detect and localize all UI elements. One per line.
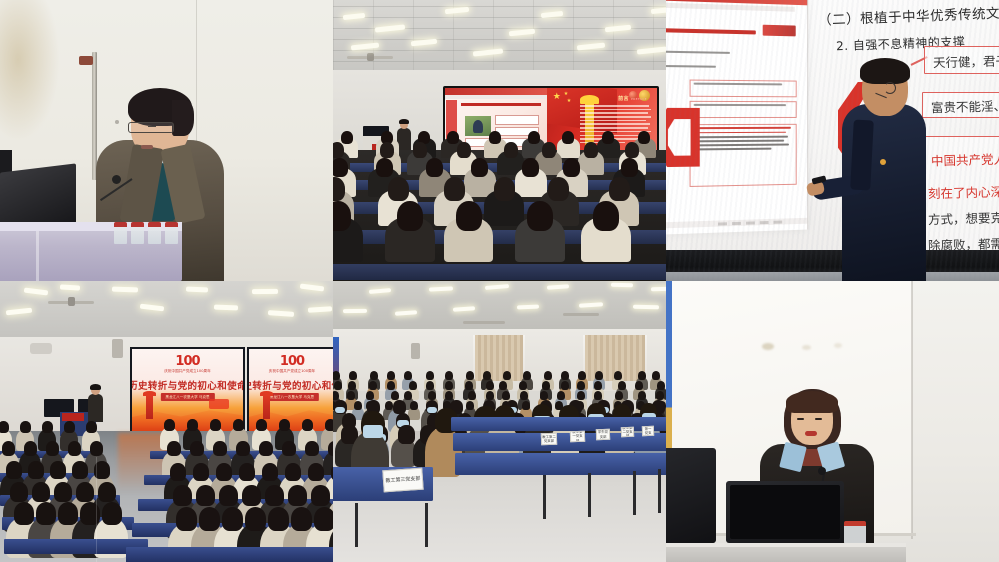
microphone-head <box>112 175 121 184</box>
ceiling-line <box>613 0 614 78</box>
audience-head <box>333 371 340 380</box>
audience-head <box>80 502 101 525</box>
audience-head <box>621 158 638 177</box>
ceiling-line <box>333 17 666 18</box>
audience-head <box>595 371 603 380</box>
audience-head <box>369 381 377 390</box>
audience-head <box>190 441 204 456</box>
audience-head <box>409 381 417 390</box>
audience-head <box>233 419 244 431</box>
audience-head <box>413 142 427 158</box>
ceiling-light <box>112 287 138 293</box>
photo-cell-top-left <box>0 0 333 281</box>
desk-leg <box>633 471 636 515</box>
audience-head <box>370 371 378 380</box>
audience-head <box>502 391 510 400</box>
speaker-mouth <box>141 145 153 149</box>
audience-head <box>311 485 330 506</box>
photo-collage: ★★★ 前言 PREFACE <box>0 0 999 562</box>
speaker-hair <box>128 88 192 126</box>
audience-head <box>404 371 412 380</box>
audience-head <box>347 391 355 400</box>
audience-head <box>282 441 296 456</box>
photo-cell-top-right: （二）根植于中华优秀传统文化 2. 自强不息精神的支撑 自强不息 天行健，君子以… <box>666 0 999 281</box>
audience-head <box>522 401 530 410</box>
wall-speaker <box>411 343 420 359</box>
ceiling-light <box>252 289 278 294</box>
lecturer-hair <box>860 58 910 84</box>
ceiling-light <box>633 305 659 310</box>
desk-leg <box>588 473 591 517</box>
audience-head <box>528 131 540 144</box>
audience-head <box>445 391 453 400</box>
microphone-head <box>818 467 826 475</box>
audience-head <box>2 441 15 456</box>
audience-head <box>210 419 221 431</box>
audience-head <box>638 371 646 380</box>
photo-cell-top-center: ★★★ 前言 PREFACE <box>333 0 666 281</box>
audience-head <box>593 201 619 231</box>
audience-head <box>410 401 418 410</box>
photo-cell-bottom-center: 教工第三党支部教工第二党支部教工第一党支部学生党支部教工第二党支部教工第一党支部 <box>333 281 666 562</box>
audience-head <box>602 131 614 144</box>
audience-head <box>542 142 556 158</box>
presenter-figure <box>88 394 103 422</box>
audience-head <box>72 461 88 478</box>
audience-head <box>32 482 50 502</box>
audience-head <box>196 485 215 506</box>
audience-head <box>393 400 406 414</box>
water-bottles <box>844 521 866 544</box>
ceiling-line <box>413 0 414 78</box>
audience-head <box>635 381 643 390</box>
lectern-edge <box>36 231 39 281</box>
audience-head <box>222 507 244 531</box>
audience-head <box>354 401 362 410</box>
desk-sign: 教工第一党支部 <box>642 426 654 436</box>
audience-head <box>466 401 474 410</box>
ceiling-line <box>333 61 666 62</box>
audience-head <box>28 461 44 478</box>
lectern-monitor <box>726 481 844 543</box>
slide-preface-title: 前言 PREFACE <box>618 95 647 102</box>
audience-head <box>456 201 482 231</box>
audience-head <box>187 419 198 431</box>
audience-head <box>397 201 423 231</box>
audience-head <box>527 201 553 231</box>
anniversary-line: 庆祝中国共产党成立100周年 <box>269 369 315 374</box>
audience-head <box>102 502 123 525</box>
ceiling-fan <box>48 301 94 304</box>
audience-head <box>58 502 79 525</box>
audience-head <box>562 131 574 144</box>
audience-head <box>577 391 585 400</box>
face-mask <box>427 407 437 413</box>
lecture-byline: 黑龙江八一农垦大学 马克思 <box>265 393 319 401</box>
aisle-line <box>96 457 97 562</box>
audience-head <box>36 502 57 525</box>
audience-head <box>268 507 290 531</box>
wall-speaker <box>112 339 123 358</box>
audience-head <box>173 485 192 506</box>
audience-head <box>24 441 37 456</box>
ceiling-light <box>343 309 367 313</box>
lecture-byline: 黑龙江八一农垦大学 马克思 <box>160 393 214 401</box>
audience-head <box>540 391 548 400</box>
audience-head <box>193 463 209 481</box>
audience-head <box>239 463 255 481</box>
ceiling-light <box>611 283 633 287</box>
audience-head <box>523 371 531 380</box>
audience-head <box>522 158 539 177</box>
audience-head <box>262 463 278 481</box>
audience-head <box>334 381 342 390</box>
audience-head <box>291 507 313 531</box>
desk-leg <box>658 469 661 513</box>
audience-head <box>76 482 94 502</box>
audience-head <box>614 371 622 380</box>
audience-head <box>657 381 665 390</box>
audience-head <box>577 381 585 390</box>
ceiling-fan <box>347 56 393 59</box>
audience-head <box>98 482 116 502</box>
ceiling-line <box>533 0 534 78</box>
headset-microphone <box>884 82 896 94</box>
audience-head <box>638 391 646 400</box>
audience-head <box>216 463 232 481</box>
audience-head <box>471 158 488 177</box>
ceiling-line <box>333 6 666 7</box>
whiteboard-seam <box>911 281 913 539</box>
desk-sign: 教工第一党支部 <box>570 431 585 443</box>
lectern-banner <box>62 413 84 421</box>
speaker-hair-fringe <box>786 391 838 413</box>
audience-head <box>167 441 181 456</box>
audience-head <box>213 441 227 456</box>
audience-head <box>578 371 586 380</box>
audience-head <box>170 463 186 481</box>
lecturer-scarf <box>850 120 874 191</box>
audience-head <box>561 371 569 380</box>
audience-head <box>308 463 324 481</box>
audience-head <box>519 381 527 390</box>
audience-head <box>199 507 221 531</box>
audience-head <box>584 142 598 158</box>
audience-head <box>445 381 453 390</box>
desk-row <box>333 264 666 280</box>
audience-head <box>544 371 552 380</box>
audience-head <box>64 421 75 433</box>
audience-head <box>499 381 507 390</box>
ceiling-line <box>573 0 574 78</box>
audience-head <box>259 441 273 456</box>
audience-head <box>380 142 394 158</box>
party-lapel-pin <box>880 159 886 165</box>
audience-head <box>388 177 409 201</box>
audience-head <box>483 371 491 380</box>
audience-head <box>0 421 9 433</box>
audience-head <box>242 485 261 506</box>
speaker-glasses <box>128 122 174 133</box>
audience-head <box>625 142 639 158</box>
audience-head <box>445 371 453 380</box>
audience-head <box>219 485 238 506</box>
audience-head <box>542 381 550 390</box>
ceiling-light <box>186 286 208 292</box>
audience-head <box>594 391 602 400</box>
audience-head <box>265 485 284 506</box>
lecture-title: 历史转折与党的初心和使命 <box>247 378 333 392</box>
audience-head <box>504 142 518 158</box>
audience-head <box>387 371 395 380</box>
audience-head <box>428 391 436 400</box>
audience-head <box>90 441 103 456</box>
audience-head <box>14 502 35 525</box>
audience-head <box>465 381 473 390</box>
ceiling-light <box>214 305 238 311</box>
audience-head <box>618 381 626 390</box>
wall-spot <box>115 120 119 124</box>
audience-head <box>426 158 443 177</box>
ceiling-grid <box>333 0 666 78</box>
audience-head <box>609 177 630 201</box>
audience-head <box>349 371 357 380</box>
audience-head <box>376 158 393 177</box>
anniversary-mark: 100 <box>280 354 304 369</box>
audience-head <box>333 391 339 400</box>
audience-head <box>366 391 374 400</box>
audience-head <box>638 131 650 144</box>
audience-head <box>325 419 333 431</box>
desk-sign: 教工第三党支部 <box>382 468 423 493</box>
audience-head <box>46 441 59 456</box>
air-conditioner <box>30 343 52 354</box>
audience-head <box>54 482 72 502</box>
water-bottle <box>114 222 127 244</box>
desk-row <box>126 547 333 562</box>
speaker-mouth <box>805 431 817 436</box>
audience-head <box>594 381 602 390</box>
audience-head <box>10 482 28 502</box>
desk-leg <box>543 475 546 519</box>
audience-head <box>404 391 412 400</box>
ceiling-light <box>651 287 666 292</box>
audience-head <box>288 485 307 506</box>
water-bottle <box>165 222 178 244</box>
audience-head <box>447 131 459 144</box>
audience-head <box>333 142 344 158</box>
audience-head <box>563 158 580 177</box>
desk-sign: 教工第二党支部 <box>541 433 557 446</box>
audience-head <box>333 158 348 177</box>
wall-stain <box>0 0 60 142</box>
audience-head <box>520 391 528 400</box>
audience-head <box>348 381 356 390</box>
audience-head <box>615 391 623 400</box>
audience-head <box>489 131 501 144</box>
audience-head <box>494 177 515 201</box>
audience-head <box>486 391 494 400</box>
audience-head <box>652 371 660 380</box>
audience-head <box>86 421 97 433</box>
anniversary-mark: 100 <box>175 354 199 369</box>
face-mask <box>363 425 383 438</box>
audience-head <box>557 391 565 400</box>
audience-head <box>503 371 511 380</box>
audience-head <box>426 381 434 390</box>
audience-head <box>302 419 313 431</box>
audience-head <box>164 419 175 431</box>
audience-head <box>42 421 53 433</box>
audience-head <box>279 419 290 431</box>
pipe-valve <box>79 56 93 65</box>
audience-head <box>548 177 569 201</box>
audience-head <box>20 421 31 433</box>
audience-head <box>387 381 395 390</box>
audience-head <box>468 391 476 400</box>
audience-head <box>68 441 81 456</box>
audience-head <box>486 381 494 390</box>
photo-cell-bottom-left: 100 庆祝中国共产党成立100周年 历史转折与党的初心和使命 黑龙江八一农垦大… <box>0 281 333 562</box>
audience-head <box>314 507 333 531</box>
desk-sign: 教工第二党支部 <box>621 427 634 437</box>
audience-head <box>341 131 353 144</box>
audience-head <box>457 142 471 158</box>
desk-leg <box>355 503 358 547</box>
audience-head <box>50 461 66 478</box>
ceiling-line <box>333 0 334 78</box>
desk-sign: 学生党支部 <box>596 429 610 440</box>
lectern-top <box>666 543 906 547</box>
audience-head <box>236 441 250 456</box>
audience-head <box>305 441 319 456</box>
desk-leg <box>425 503 428 547</box>
moire-overlay <box>666 0 999 281</box>
audience-head <box>245 507 267 531</box>
audience-head <box>176 507 198 531</box>
ceiling-line <box>333 39 666 40</box>
face-mask <box>335 407 345 413</box>
ceiling-line <box>373 0 374 78</box>
lecture-title: 历史转折与党的初心和使命 <box>130 378 245 392</box>
audience-head <box>466 371 474 380</box>
water-bottle <box>148 222 161 244</box>
audience-head <box>6 461 22 478</box>
audience-head <box>285 463 301 481</box>
audience-head <box>391 391 399 400</box>
audience-head <box>398 425 415 443</box>
photo-cell-bottom-right <box>666 281 999 562</box>
audience-head <box>656 391 664 400</box>
audience-head <box>444 177 465 201</box>
anniversary-line: 庆祝中国共产党成立100周年 <box>164 369 210 374</box>
audience-head <box>561 381 569 390</box>
audience-head <box>426 371 434 380</box>
side-monitor <box>666 448 716 543</box>
ceiling-line <box>493 0 494 78</box>
water-bottle <box>131 222 144 244</box>
audience-head <box>256 419 267 431</box>
